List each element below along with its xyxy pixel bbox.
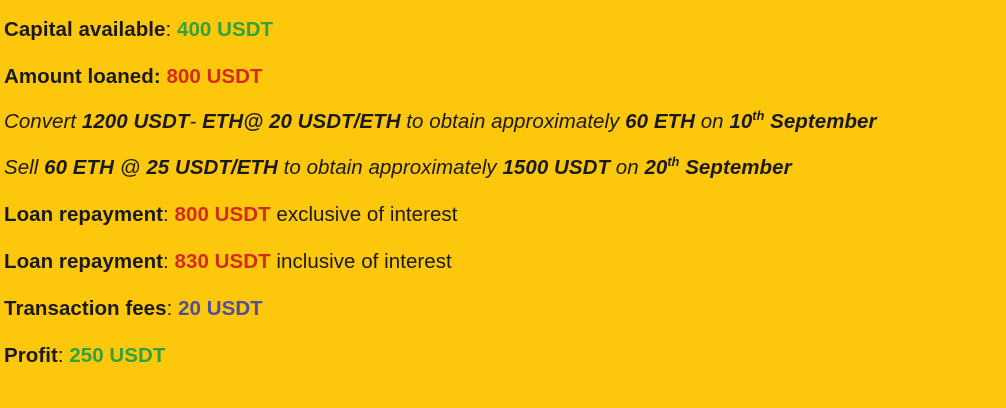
profit-value: 250 USDT xyxy=(69,344,165,367)
repayment-inclusive-label: Loan repayment xyxy=(4,250,163,273)
line-loan-repayment-exclusive: Loan repayment: 800 USDT exclusive of in… xyxy=(4,191,1006,238)
repayment-inclusive-value: 830 USDT xyxy=(175,250,271,273)
convert-verb: Convert xyxy=(4,110,82,133)
line-transaction-fees: Transaction fees: 20 USDT xyxy=(4,285,1006,332)
convert-dash: - xyxy=(189,110,202,133)
capital-available-label: Capital available xyxy=(4,18,166,41)
convert-middle-text: to obtain approximately xyxy=(401,110,626,133)
capital-available-separator: : xyxy=(166,18,178,41)
repayment-inclusive-suffix: inclusive of interest xyxy=(271,250,452,273)
convert-amount: 1200 USDT xyxy=(82,110,190,133)
sell-day: 20 xyxy=(644,156,667,179)
repayment-exclusive-separator: : xyxy=(163,203,175,226)
profit-separator: : xyxy=(58,344,70,367)
sell-rate: 25 USDT/ETH xyxy=(146,156,278,179)
sell-result: 1500 USDT xyxy=(502,156,610,179)
convert-result: 60 ETH xyxy=(625,110,695,133)
sell-month: September xyxy=(679,156,791,179)
amount-loaned-label: Amount loaned: xyxy=(4,65,161,88)
convert-asset-rate: ETH@ 20 USDT/ETH xyxy=(202,110,400,133)
sell-on-text: on xyxy=(610,156,644,179)
convert-day: 10 xyxy=(729,110,752,133)
transaction-fees-value: 20 USDT xyxy=(178,297,263,320)
repayment-exclusive-suffix: exclusive of interest xyxy=(271,203,458,226)
transaction-fees-separator: : xyxy=(167,297,179,320)
summary-panel: Capital available: 400 USDT Amount loane… xyxy=(0,0,1006,408)
line-amount-loaned: Amount loaned: 800 USDT xyxy=(4,53,1006,100)
line-sell-instruction: Sell 60 ETH @ 25 USDT/ETH to obtain appr… xyxy=(4,144,1006,191)
line-convert-instruction: Convert 1200 USDT- ETH@ 20 USDT/ETH to o… xyxy=(4,100,1006,144)
convert-day-ordinal: th xyxy=(752,108,764,123)
profit-label: Profit xyxy=(4,344,58,367)
capital-available-value: 400 USDT xyxy=(177,18,273,41)
convert-month: September xyxy=(764,110,876,133)
sell-day-ordinal: th xyxy=(667,154,679,169)
amount-loaned-value: 800 USDT xyxy=(166,65,262,88)
sell-amount: 60 ETH xyxy=(44,156,114,179)
repayment-exclusive-value: 800 USDT xyxy=(175,203,271,226)
sell-middle-text: to obtain approximately xyxy=(278,156,503,179)
line-profit: Profit: 250 USDT xyxy=(4,332,1006,379)
line-loan-repayment-inclusive: Loan repayment: 830 USDT inclusive of in… xyxy=(4,238,1006,285)
line-capital-available: Capital available: 400 USDT xyxy=(4,6,1006,53)
sell-verb: Sell xyxy=(4,156,44,179)
repayment-inclusive-separator: : xyxy=(163,250,175,273)
sell-at-symbol: @ xyxy=(114,156,146,179)
convert-on-text: on xyxy=(695,110,729,133)
transaction-fees-label: Transaction fees xyxy=(4,297,167,320)
repayment-exclusive-label: Loan repayment xyxy=(4,203,163,226)
